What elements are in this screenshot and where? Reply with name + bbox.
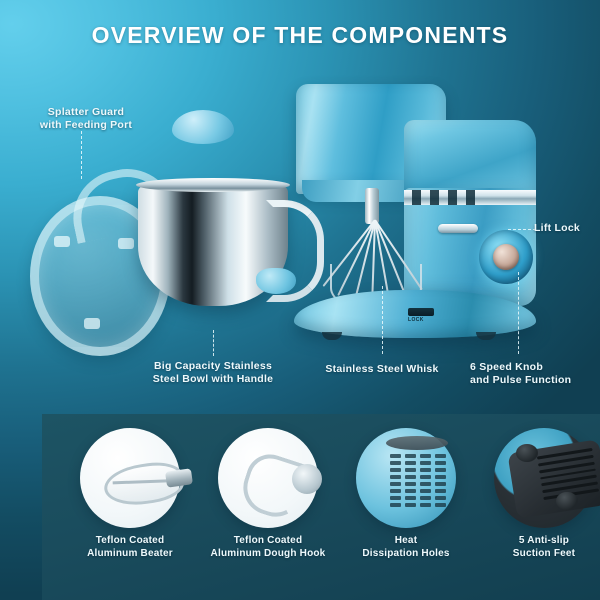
leader-line-speed-knob — [518, 272, 519, 354]
accessory-panel: Teflon Coated Aluminum Beater Teflon Coa… — [42, 414, 600, 600]
callout-lift-lock: Lift Lock — [534, 222, 600, 235]
guard-clip-bottom — [84, 318, 100, 329]
motor-top-cap — [386, 436, 448, 450]
heat-holes-disc — [356, 428, 456, 528]
beater-disc — [80, 428, 180, 528]
splatter-guard-image — [26, 178, 156, 340]
callout-splatter-guard: Splatter Guard with Feeding Port — [16, 106, 156, 132]
leader-line-bowl — [213, 330, 214, 356]
base-foot-left — [322, 332, 342, 340]
stand-mixer-image: POWVA LOCK — [286, 84, 536, 352]
callout-bowl: Big Capacity Stainless Steel Bowl with H… — [133, 360, 293, 386]
stainless-bowl-image — [138, 176, 288, 326]
leader-line-whisk — [382, 286, 383, 354]
bowl-rim — [136, 178, 290, 192]
dough-hook-disc — [218, 428, 318, 528]
leader-line-splatter-guard — [81, 131, 82, 179]
suction-feet-disc — [494, 428, 594, 528]
bowl-foot — [166, 298, 260, 324]
speed-knob[interactable] — [493, 244, 519, 270]
attachment-shaft — [365, 188, 379, 224]
accessory-beater: Teflon Coated Aluminum Beater — [64, 428, 196, 538]
accessory-label-heat-holes: Heat Dissipation Holes — [328, 534, 484, 560]
accessory-suction-feet: 5 Anti-slip Suction Feet — [478, 428, 600, 538]
chrome-trim-band — [404, 190, 536, 205]
heat-dissipation-holes-icon — [390, 454, 446, 506]
suction-foot-2 — [556, 492, 578, 510]
page-title: OVERVIEW OF THE COMPONENTS — [0, 22, 600, 49]
lift-lock-lever[interactable] — [438, 224, 478, 233]
accessory-dough-hook: Teflon Coated Aluminum Dough Hook — [202, 428, 334, 538]
guard-clip-left — [54, 236, 70, 247]
accessory-label-beater: Teflon Coated Aluminum Beater — [52, 534, 208, 560]
base-foot-right — [476, 332, 496, 340]
beater-shaft — [165, 468, 193, 487]
callout-speed-knob: 6 Speed Knob and Pulse Function — [470, 361, 600, 387]
suction-foot-1 — [516, 444, 538, 462]
guard-clip-right — [118, 238, 134, 249]
accessory-heat-holes: Heat Dissipation Holes — [340, 428, 472, 538]
bowl-accessory-cap — [172, 110, 234, 144]
infographic-canvas: OVERVIEW OF THE COMPONENTS Splatter Guar… — [0, 0, 600, 600]
dough-hook-collar — [292, 464, 322, 494]
callout-whisk: Stainless Steel Whisk — [302, 363, 462, 376]
accessory-label-dough-hook: Teflon Coated Aluminum Dough Hook — [190, 534, 346, 560]
leader-line-lift-lock — [508, 229, 536, 230]
speed-knob-ring[interactable] — [479, 230, 533, 284]
lock-button[interactable] — [408, 308, 434, 316]
lock-label: LOCK — [408, 317, 438, 323]
accessory-label-suction-feet: 5 Anti-slip Suction Feet — [466, 534, 600, 560]
